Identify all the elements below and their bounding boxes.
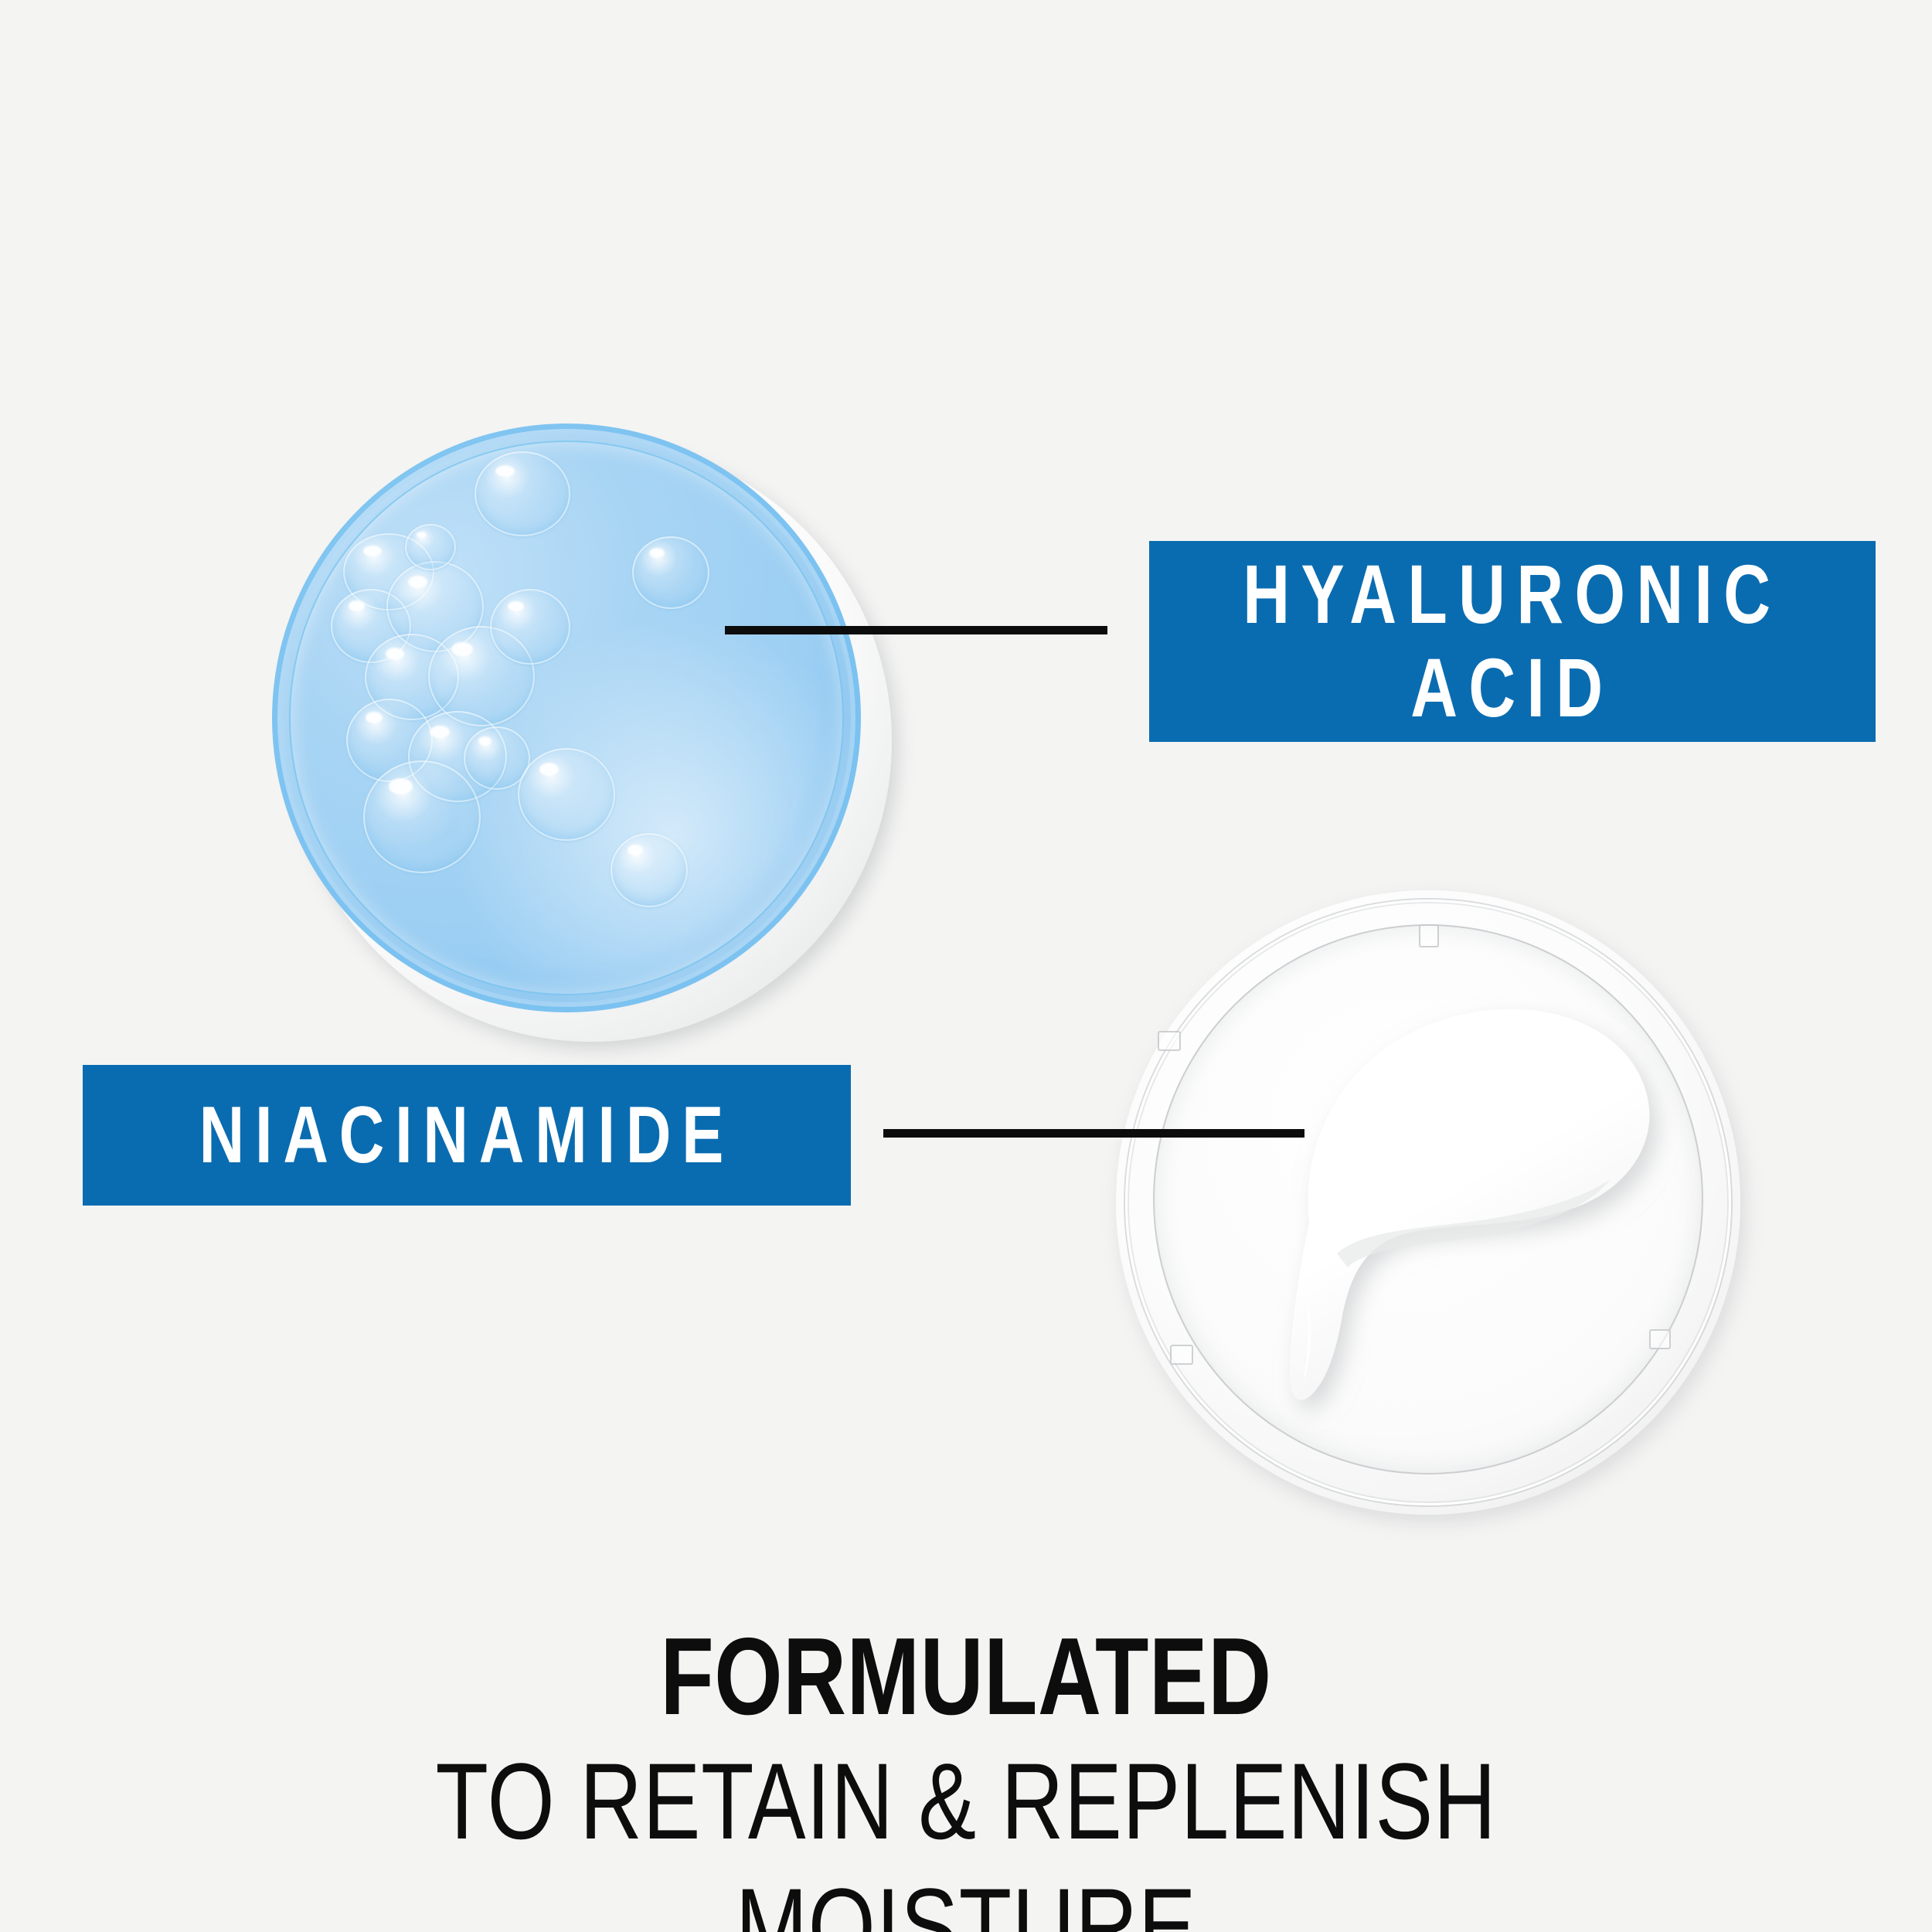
callout-niacinamide[interactable]: NIACINAMIDE <box>83 1065 851 1206</box>
headline-secondary: TO RETAIN & REPLENISH MOISTURE <box>193 1739 1739 1932</box>
callout-hyaluronic-acid-label: HYALURONIC ACID <box>1243 548 1781 735</box>
gel-bubble <box>408 711 507 802</box>
callout-hyaluronic-acid[interactable]: HYALURONIC ACID <box>1149 541 1876 742</box>
callout-niacinamide-label: NIACINAMIDE <box>199 1090 734 1180</box>
leader-line-hyaluronic-acid <box>725 626 1107 634</box>
headline-primary: FORMULATED <box>193 1614 1739 1740</box>
gel-bubble <box>632 536 709 609</box>
product-ingredient-infographic: HYALURONIC ACID NIACINAMIDE FORMULATED T… <box>0 0 1932 1932</box>
gel-bubble <box>474 451 570 536</box>
gel-bubble <box>490 589 570 665</box>
gel-bubble <box>464 726 530 790</box>
gel-bubble <box>405 524 456 570</box>
gel-bubble <box>331 589 411 663</box>
white-cream-petri-dish <box>1116 890 1750 1524</box>
gel-bubble <box>518 748 615 841</box>
gel-bubble <box>611 833 688 907</box>
gel-bubble <box>386 561 484 652</box>
blue-gel-surface <box>272 423 861 1012</box>
gel-bubble <box>428 626 535 726</box>
gel-bubble <box>363 760 481 873</box>
gel-bubble <box>343 533 434 611</box>
cream-swoosh-graphic <box>1116 890 1740 1515</box>
blue-gel-petri-dish <box>272 423 890 1042</box>
gel-bubble <box>365 634 459 720</box>
leader-line-niacinamide <box>883 1129 1304 1138</box>
gel-bubble <box>346 699 433 782</box>
